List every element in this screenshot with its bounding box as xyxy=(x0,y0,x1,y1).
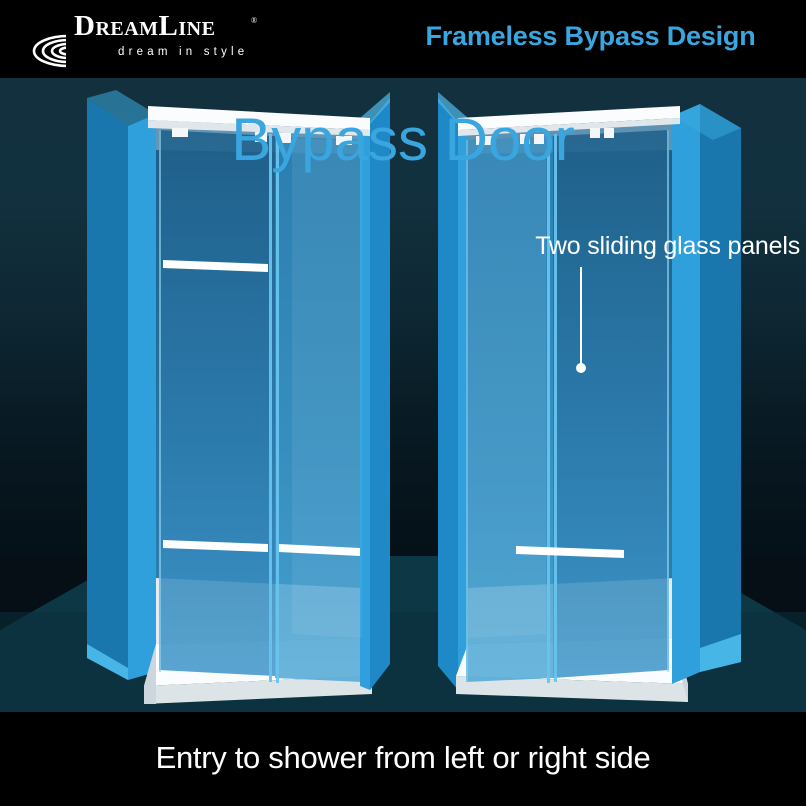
left-side-wall xyxy=(438,92,468,690)
glass-sheen xyxy=(292,138,362,638)
left-side-wall xyxy=(87,90,156,680)
brand-tagline: dream in style xyxy=(118,46,248,58)
sliding-glass-panel-1 xyxy=(159,130,275,676)
annotation-label: Two sliding glass panels xyxy=(310,232,806,261)
page-title: Bypass Door xyxy=(0,105,806,174)
glass-sheen xyxy=(468,136,546,638)
header-subtitle: Frameless Bypass Design xyxy=(398,21,783,52)
right-side-wall xyxy=(360,92,390,690)
footer-bar: Entry to shower from left or right side xyxy=(0,712,806,806)
sliding-glass-panel-2 xyxy=(553,130,669,678)
right-side-wall xyxy=(672,104,741,684)
registered-trademark-icon: ® xyxy=(251,16,257,25)
brand-wordmark: DreamLine xyxy=(74,12,215,41)
footer-caption: Entry to shower from left or right side xyxy=(0,740,806,776)
header-bar: DreamLine ® dream in style Frameless Byp… xyxy=(0,0,806,78)
brand-logo[interactable]: DreamLine ® dream in style xyxy=(30,10,280,72)
product-infographic: Bypass Door xyxy=(0,0,806,806)
illustration-scene: Bypass Door xyxy=(0,78,806,712)
